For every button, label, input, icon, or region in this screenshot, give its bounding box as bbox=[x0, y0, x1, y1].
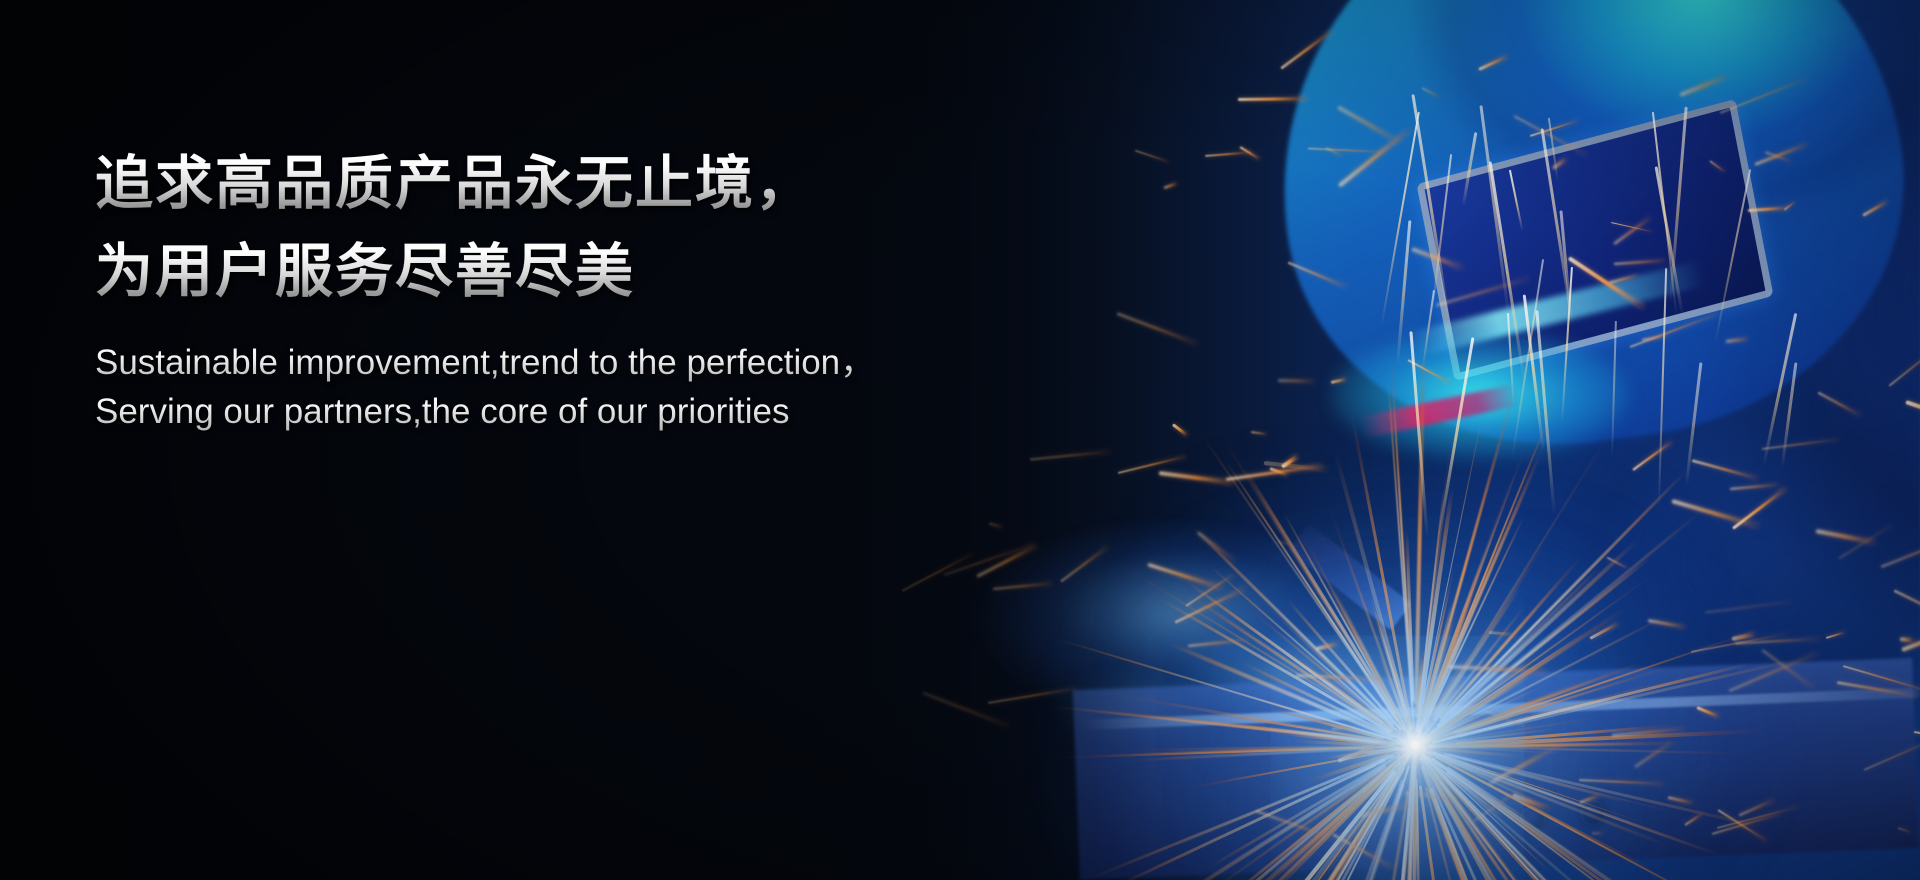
banner-copy: 追求高品质产品永无止境， 为用户服务尽善尽美 Sustainable impro… bbox=[95, 140, 875, 436]
welding-arc-core bbox=[1411, 741, 1419, 749]
welding-photo bbox=[0, 0, 1920, 880]
subtitle-block: Sustainable improvement,trend to the per… bbox=[95, 338, 875, 436]
headline-line-2: 为用户服务尽善尽美 bbox=[95, 228, 875, 316]
subtitle-line-2: Serving our partners,the core of our pri… bbox=[95, 387, 875, 436]
subtitle-line-1: Sustainable improvement,trend to the per… bbox=[95, 338, 875, 387]
headline-line-1: 追求高品质产品永无止境， bbox=[95, 140, 875, 228]
hero-banner: 追求高品质产品永无止境， 为用户服务尽善尽美 Sustainable impro… bbox=[0, 0, 1920, 880]
spark-ember bbox=[1238, 97, 1307, 101]
